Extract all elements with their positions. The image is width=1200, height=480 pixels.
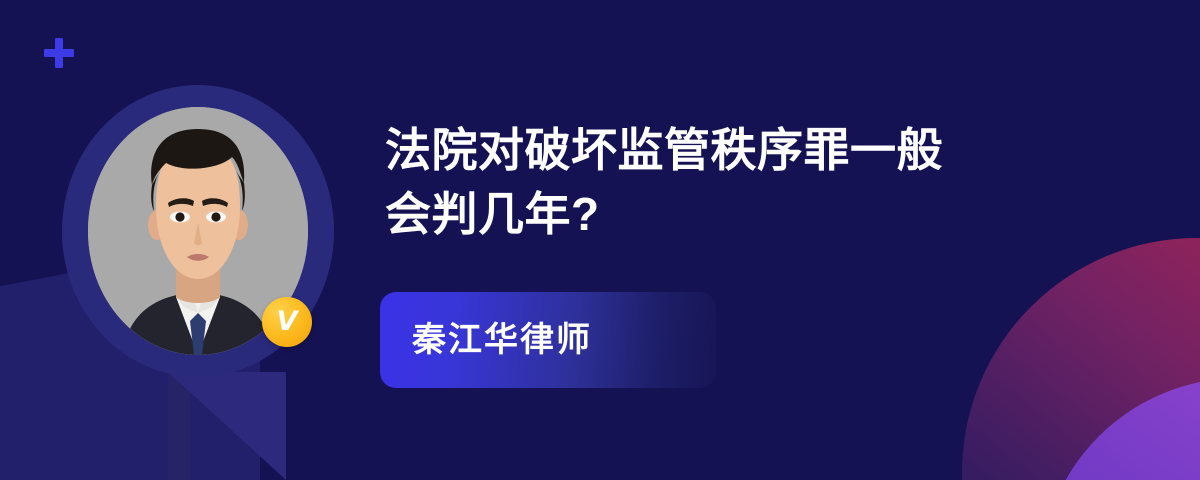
avatar: V (62, 85, 334, 377)
article-cover-card: V 法院对破坏监管秩序罪一般会判几年? 秦江华律师 (0, 0, 1200, 480)
triangle-wedge-shape (168, 372, 286, 480)
author-name-label: 秦江华律师 (412, 323, 592, 357)
plus-icon (44, 38, 74, 68)
text-column: 法院对破坏监管秩序罪一般会判几年? (385, 118, 1085, 247)
author-name-badge[interactable]: 秦江华律师 (380, 292, 716, 388)
page-title: 法院对破坏监管秩序罪一般会判几年? (385, 118, 945, 247)
verified-mark-label: V (277, 308, 298, 335)
verified-v-icon: V (262, 297, 312, 347)
